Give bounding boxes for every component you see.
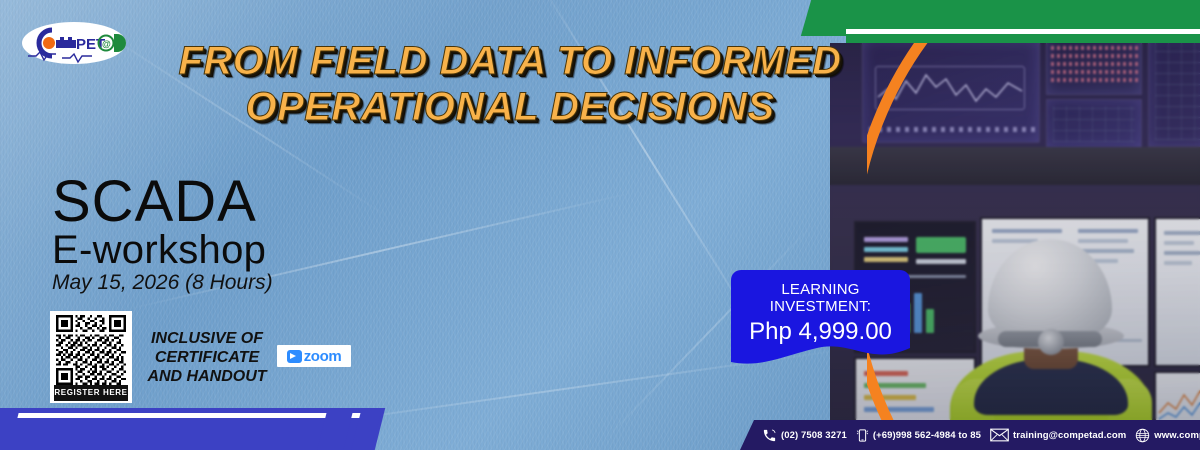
logo-mark: PET @ bbox=[22, 22, 126, 64]
green-accent-bar bbox=[846, 0, 1200, 29]
email-address: training@competad.com bbox=[1013, 430, 1126, 441]
phone-number: (02) 7508 3271 bbox=[781, 430, 847, 441]
registration-qr-code[interactable]: REGISTER HERE bbox=[50, 311, 132, 403]
price-amount: Php 4,999.00 bbox=[731, 317, 910, 347]
mobile-number: (+69)998 562-4984 to 85 bbox=[873, 430, 981, 441]
qr-code-label: REGISTER HERE bbox=[54, 385, 128, 401]
contact-footer-bar: (02) 7508 3271 (+69)998 562-4984 to 85 t… bbox=[740, 420, 1200, 450]
course-title: SCADA bbox=[52, 172, 257, 232]
page-title: FROM FIELD DATA TO INFORMED OPERATIONAL … bbox=[120, 38, 900, 130]
headline-line-2: OPERATIONAL DECISIONS bbox=[120, 84, 900, 130]
qr-code-image bbox=[54, 315, 128, 385]
bottom-left-white-stripe bbox=[17, 413, 366, 418]
zoom-camera-icon bbox=[287, 350, 302, 363]
mobile-contact[interactable]: (+69)998 562-4984 to 85 bbox=[856, 428, 981, 443]
globe-icon bbox=[1135, 428, 1150, 443]
mobile-phone-icon bbox=[856, 428, 869, 443]
course-format: E-workshop bbox=[52, 228, 266, 272]
headline-line-1: FROM FIELD DATA TO INFORMED bbox=[120, 38, 900, 84]
phone-icon bbox=[762, 428, 777, 443]
phone-contact[interactable]: (02) 7508 3271 bbox=[762, 428, 847, 443]
inclusions-line-3: AND HANDOUT bbox=[143, 367, 271, 386]
inclusions-line-1: INCLUSIVE OF bbox=[143, 329, 271, 348]
price-label-line-2: INVESTMENT: bbox=[731, 298, 910, 315]
email-contact[interactable]: training@competad.com bbox=[990, 428, 1126, 442]
website-contact[interactable]: www.competad.com bbox=[1135, 428, 1200, 443]
website-url: www.competad.com bbox=[1154, 430, 1200, 441]
promotional-banner: PET @ FROM FIELD DATA TO INFORMED OPERAT… bbox=[0, 0, 1200, 450]
inclusions-line-2: CERTIFICATE bbox=[143, 348, 271, 367]
inclusions-text: INCLUSIVE OF CERTIFICATE AND HANDOUT bbox=[143, 329, 271, 386]
zoom-wordmark: zoom bbox=[304, 348, 342, 365]
price-badge: LEARNING INVESTMENT: Php 4,999.00 bbox=[731, 270, 910, 370]
competad-logo[interactable]: PET @ bbox=[22, 22, 126, 64]
zoom-platform-badge: zoom bbox=[277, 345, 351, 367]
envelope-icon bbox=[990, 428, 1009, 442]
price-label-line-1: LEARNING bbox=[731, 281, 910, 298]
course-date: May 15, 2026 (8 Hours) bbox=[52, 270, 273, 296]
svg-text:@: @ bbox=[102, 39, 111, 49]
